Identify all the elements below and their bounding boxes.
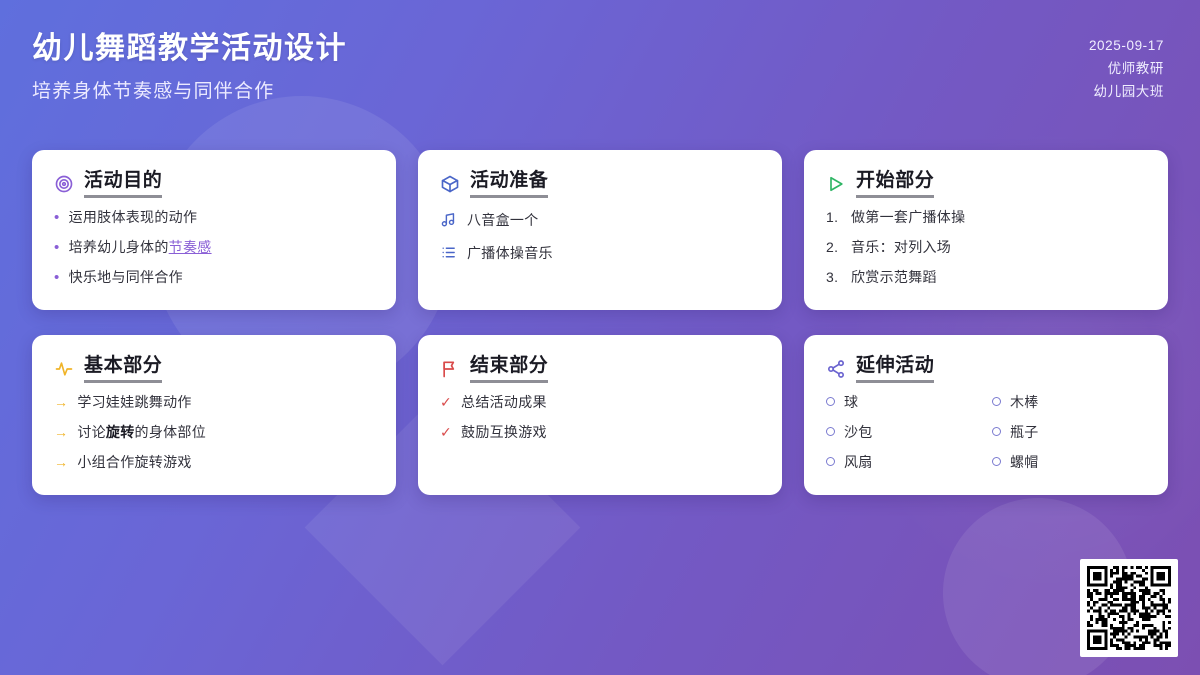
card-title: 延伸活动 xyxy=(856,355,934,383)
list-item-label: 做第一套广播体操 xyxy=(851,208,1146,227)
list-item-highlight: 旋转 xyxy=(106,424,135,440)
list-item-label: 沙包 xyxy=(844,423,980,442)
activity-pulse-icon xyxy=(54,359,74,379)
target-icon xyxy=(54,174,74,194)
list-item-text: 培养幼儿身体的 xyxy=(69,239,169,255)
list-icon xyxy=(440,244,458,262)
card-header: 活动目的 xyxy=(54,170,374,198)
card-header: 延伸活动 xyxy=(826,355,1146,383)
qr-code[interactable] xyxy=(1080,559,1178,657)
bullet-circle-icon xyxy=(826,427,835,436)
list-item-label: 欣赏示范舞蹈 xyxy=(851,268,1146,287)
list-item-label: 学习娃娃跳舞动作 xyxy=(77,393,374,412)
list-item[interactable]: ✓鼓励互换游戏 xyxy=(440,423,760,442)
card-body: 1.做第一套广播体操2.音乐：对列入场3.欣赏示范舞蹈 xyxy=(826,208,1146,287)
box-icon xyxy=(440,174,460,194)
card-title: 基本部分 xyxy=(84,355,162,383)
list-item[interactable]: 木棒 xyxy=(992,393,1146,412)
list-item-highlight: 节奏感 xyxy=(169,239,212,255)
list-item-label: 运用肢体表现的动作 xyxy=(69,208,374,227)
list-item-number: 2. xyxy=(826,238,842,257)
card-body: ✓总结活动成果✓鼓励互换游戏 xyxy=(440,393,760,442)
list-item[interactable]: 2.音乐：对列入场 xyxy=(826,238,1146,257)
music-note-icon xyxy=(440,211,458,229)
bullet-check-icon: ✓ xyxy=(440,423,452,442)
meta-grade: 幼儿园大班 xyxy=(1089,80,1164,103)
card-body: 球木棒沙包瓶子风扇螺帽 xyxy=(826,393,1146,483)
list-item-label: 风扇 xyxy=(844,453,980,472)
list-item[interactable]: →小组合作旋转游戏 xyxy=(54,453,374,472)
list-item[interactable]: ✓总结活动成果 xyxy=(440,393,760,412)
play-icon xyxy=(826,174,846,194)
card-activity-goal[interactable]: 活动目的•运用肢体表现的动作•培养幼儿身体的节奏感•快乐地与同伴合作 xyxy=(32,150,396,310)
card-header: 活动准备 xyxy=(440,170,760,198)
list-item[interactable]: 1.做第一套广播体操 xyxy=(826,208,1146,227)
list-item[interactable]: 广播体操音乐 xyxy=(440,241,760,263)
list-item-label: 音乐：对列入场 xyxy=(851,238,1146,257)
bullet-arrow-icon: → xyxy=(54,423,68,442)
list-item-label: 木棒 xyxy=(1010,393,1146,412)
share-icon xyxy=(826,359,846,379)
list-item-label: 八音盒一个 xyxy=(467,211,760,230)
bullet-dot-icon: • xyxy=(54,270,60,285)
bullet-dot-icon: • xyxy=(54,210,60,225)
card-header: 结束部分 xyxy=(440,355,760,383)
bullet-circle-icon xyxy=(992,427,1001,436)
card-body: 八音盒一个广播体操音乐 xyxy=(440,208,760,263)
meta-date: 2025-09-17 xyxy=(1089,34,1164,57)
card-body: →学习娃娃跳舞动作→讨论旋转的身体部位→小组合作旋转游戏 xyxy=(54,393,374,472)
list-item[interactable]: •快乐地与同伴合作 xyxy=(54,268,374,287)
card-activity-prep[interactable]: 活动准备八音盒一个广播体操音乐 xyxy=(418,150,782,310)
list-item[interactable]: 3.欣赏示范舞蹈 xyxy=(826,268,1146,287)
card-header: 基本部分 xyxy=(54,355,374,383)
bullet-arrow-icon: → xyxy=(54,393,68,412)
page-subtitle: 培养身体节奏感与同伴合作 xyxy=(32,80,347,104)
card-start-section[interactable]: 开始部分1.做第一套广播体操2.音乐：对列入场3.欣赏示范舞蹈 xyxy=(804,150,1168,310)
list-item[interactable]: →学习娃娃跳舞动作 xyxy=(54,393,374,412)
list-item-label: 培养幼儿身体的节奏感 xyxy=(69,238,374,257)
slide-header: 幼儿舞蹈教学活动设计 培养身体节奏感与同伴合作 2025-09-17 优师教研 … xyxy=(0,0,1200,140)
list-item[interactable]: 八音盒一个 xyxy=(440,208,760,230)
bullet-circle-icon xyxy=(992,397,1001,406)
list-item[interactable]: •培养幼儿身体的节奏感 xyxy=(54,238,374,257)
card-body: •运用肢体表现的动作•培养幼儿身体的节奏感•快乐地与同伴合作 xyxy=(54,208,374,287)
card-title: 活动准备 xyxy=(470,170,548,198)
list-item[interactable]: 风扇 xyxy=(826,453,980,472)
list-item-number: 1. xyxy=(826,208,842,227)
card-title: 结束部分 xyxy=(470,355,548,383)
card-end-section[interactable]: 结束部分✓总结活动成果✓鼓励互换游戏 xyxy=(418,335,782,495)
card-title: 开始部分 xyxy=(856,170,934,198)
list-item-label: 广播体操音乐 xyxy=(467,244,760,263)
card-basic-section[interactable]: 基本部分→学习娃娃跳舞动作→讨论旋转的身体部位→小组合作旋转游戏 xyxy=(32,335,396,495)
page-title: 幼儿舞蹈教学活动设计 xyxy=(32,30,347,68)
list-item[interactable]: 沙包 xyxy=(826,423,980,442)
bullet-dot-icon: • xyxy=(54,240,60,255)
list-item-label: 总结活动成果 xyxy=(461,393,760,412)
list-item-label: 快乐地与同伴合作 xyxy=(69,268,374,287)
card-header: 开始部分 xyxy=(826,170,1146,198)
card-title: 活动目的 xyxy=(84,170,162,198)
list-item[interactable]: •运用肢体表现的动作 xyxy=(54,208,374,227)
bullet-arrow-icon: → xyxy=(54,453,68,472)
card-extension-activity[interactable]: 延伸活动球木棒沙包瓶子风扇螺帽 xyxy=(804,335,1168,495)
bullet-circle-icon xyxy=(826,397,835,406)
list-item[interactable]: →讨论旋转的身体部位 xyxy=(54,423,374,442)
list-item-label: 讨论旋转的身体部位 xyxy=(77,423,374,442)
list-item-label: 鼓励互换游戏 xyxy=(461,423,760,442)
list-item-label: 小组合作旋转游戏 xyxy=(77,453,374,472)
list-item-label: 球 xyxy=(844,393,980,412)
bullet-check-icon: ✓ xyxy=(440,393,452,412)
meta-org: 优师教研 xyxy=(1089,57,1164,80)
list-item-number: 3. xyxy=(826,268,842,287)
list-item[interactable]: 瓶子 xyxy=(992,423,1146,442)
card-grid: 活动目的•运用肢体表现的动作•培养幼儿身体的节奏感•快乐地与同伴合作活动准备八音… xyxy=(32,150,1168,495)
list-item[interactable]: 螺帽 xyxy=(992,453,1146,472)
list-item-text: 讨论 xyxy=(77,424,106,440)
title-block: 幼儿舞蹈教学活动设计 培养身体节奏感与同伴合作 xyxy=(32,26,347,103)
list-item-label: 螺帽 xyxy=(1010,453,1146,472)
list-item[interactable]: 球 xyxy=(826,393,980,412)
flag-icon xyxy=(440,359,460,379)
slide-root: 幼儿舞蹈教学活动设计 培养身体节奏感与同伴合作 2025-09-17 优师教研 … xyxy=(0,0,1200,675)
bullet-circle-icon xyxy=(992,457,1001,466)
list-item-label: 瓶子 xyxy=(1010,423,1146,442)
header-meta: 2025-09-17 优师教研 幼儿园大班 xyxy=(1089,26,1164,104)
list-item-text-after: 的身体部位 xyxy=(135,424,207,440)
bullet-circle-icon xyxy=(826,457,835,466)
qr-code-image xyxy=(1087,566,1171,650)
